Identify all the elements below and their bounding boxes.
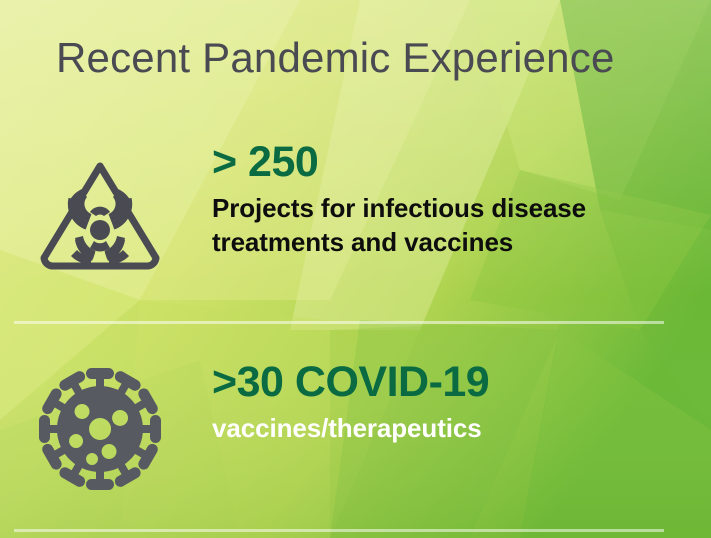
- stat-description-projects-line2: treatments and vaccines: [212, 225, 586, 259]
- stat-text-projects: > 250 Projects for infectious disease tr…: [200, 140, 586, 260]
- biohazard-icon: [35, 154, 165, 272]
- stat-row-projects: > 250 Projects for infectious disease tr…: [0, 140, 586, 272]
- infographic-slide: Recent Pandemic Experience: [0, 0, 711, 538]
- stat-text-covid: >30 COVID-19 vaccines/therapeutics: [200, 360, 489, 445]
- stat-description-projects-line1: Projects for infectious disease: [212, 191, 586, 225]
- page-title: Recent Pandemic Experience: [56, 34, 615, 82]
- stat-row-covid: >30 COVID-19 vaccines/therapeutics: [0, 360, 489, 490]
- stat-description-covid: vaccines/therapeutics: [212, 411, 489, 445]
- coronavirus-icon: [37, 368, 163, 490]
- biohazard-icon-cell: [0, 140, 200, 272]
- stat-number-projects: > 250: [212, 140, 586, 185]
- stat-number-covid: >30 COVID-19: [212, 360, 489, 405]
- divider-bottom: [14, 529, 664, 532]
- divider-top: [14, 321, 664, 324]
- coronavirus-icon-cell: [0, 360, 200, 490]
